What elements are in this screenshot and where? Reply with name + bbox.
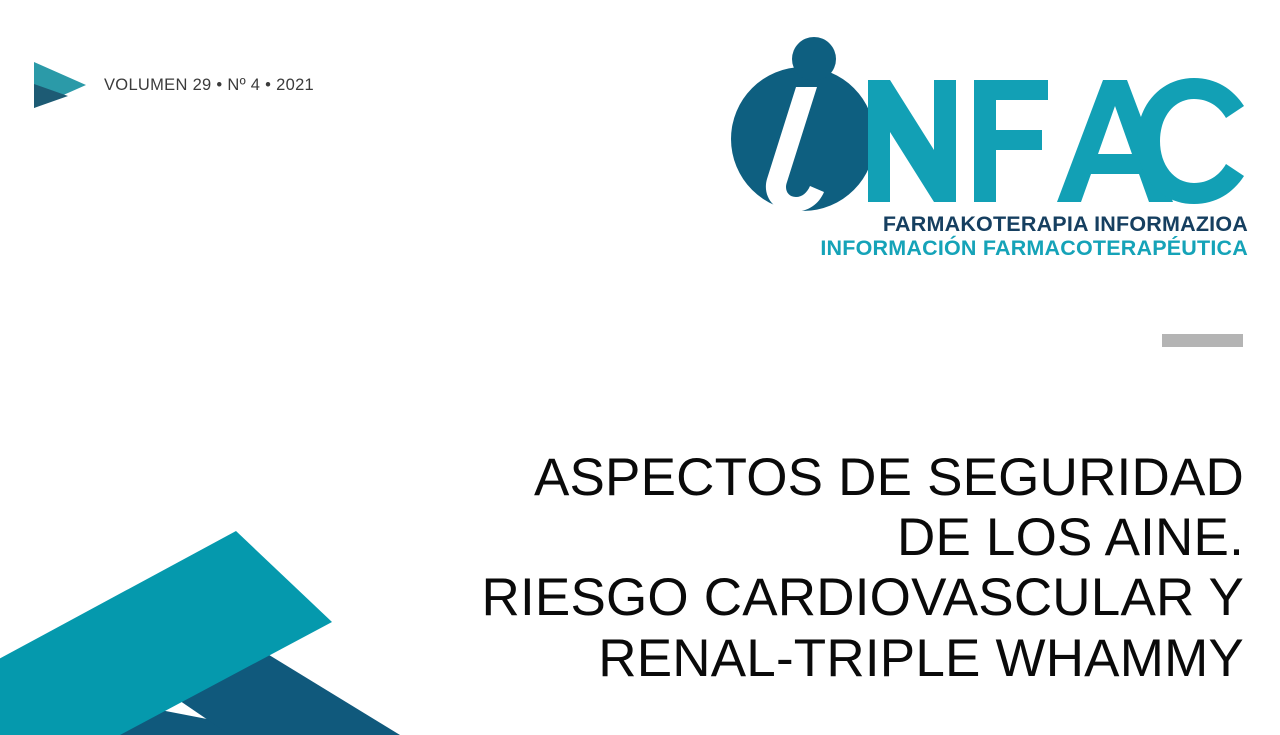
teal-parallelogram-shape bbox=[0, 531, 332, 735]
title-line-1: ASPECTOS DE SEGURIDAD bbox=[364, 448, 1244, 508]
tagline-spanish: INFORMACIÓN FARMACOTERAPÉUTICA bbox=[718, 236, 1248, 260]
infac-logo: FARMAKOTERAPIA INFORMAZIOA INFORMACIÓN F… bbox=[718, 36, 1248, 268]
cover-page: VOLUMEN 29 • Nº 4 • 2021 bbox=[0, 0, 1280, 735]
navy-parallelogram-shape bbox=[0, 700, 290, 735]
volume-label: VOLUMEN 29 • Nº 4 • 2021 bbox=[104, 76, 314, 95]
logo-taglines: FARMAKOTERAPIA INFORMAZIOA INFORMACIÓN F… bbox=[718, 212, 1248, 260]
title-line-4: RENAL-TRIPLE WHAMMY bbox=[364, 629, 1244, 689]
tagline-basque: FARMAKOTERAPIA INFORMAZIOA bbox=[718, 212, 1248, 236]
logo-mark bbox=[718, 36, 1248, 216]
infac-wordmark-icon bbox=[718, 36, 1248, 216]
navy-wedge-shape bbox=[120, 620, 400, 735]
page-title: ASPECTOS DE SEGURIDAD DE LOS AINE. RIESG… bbox=[364, 448, 1244, 690]
title-line-2: DE LOS AINE. bbox=[364, 508, 1244, 568]
gray-divider-rule bbox=[1162, 334, 1243, 347]
play-triangle-icon bbox=[30, 60, 88, 110]
title-line-3: RIESGO CARDIOVASCULAR Y bbox=[364, 568, 1244, 628]
masthead: VOLUMEN 29 • Nº 4 • 2021 bbox=[30, 60, 314, 110]
